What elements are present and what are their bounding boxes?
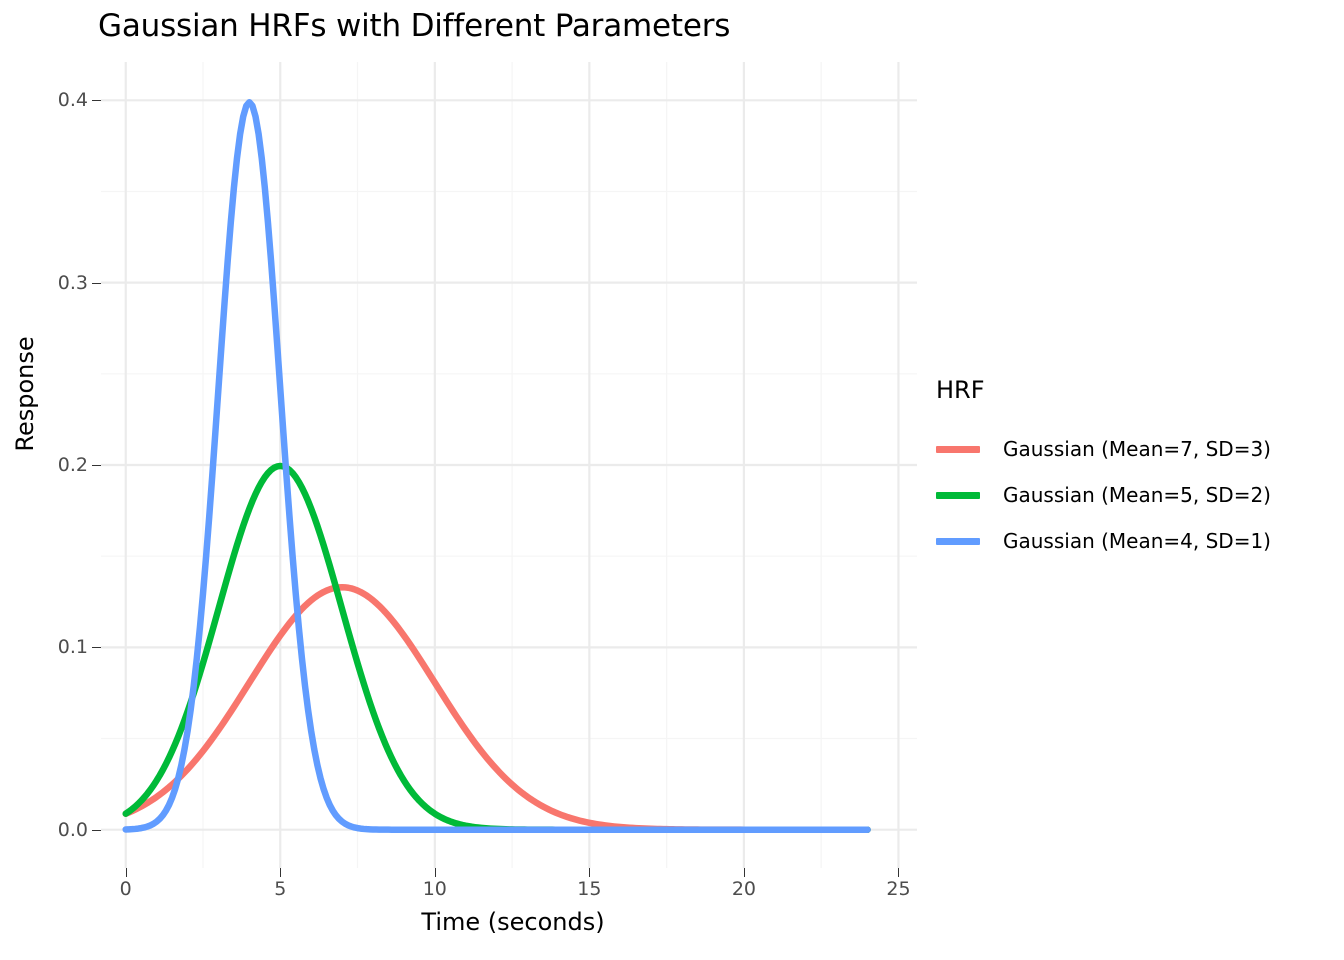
x-axis-title: Time (seconds) bbox=[136, 908, 890, 936]
legend-title: HRF bbox=[936, 376, 1271, 404]
x-tick-label: 15 bbox=[554, 878, 624, 900]
x-tick-label: 20 bbox=[709, 878, 779, 900]
legend-item-label: Gaussian (Mean=4, SD=1) bbox=[1003, 529, 1271, 553]
chart-figure: Gaussian HRFs with Different Parameters … bbox=[0, 0, 1344, 960]
legend-color-swatch bbox=[936, 446, 980, 453]
x-axis-tick-labels: 0510152025 bbox=[0, 878, 1344, 908]
y-tick-mark bbox=[92, 830, 101, 831]
y-tick-mark bbox=[92, 283, 101, 284]
x-tick-mark bbox=[435, 868, 436, 877]
plot-area-svg bbox=[101, 62, 917, 868]
x-tick-mark bbox=[744, 868, 745, 877]
y-tick-label: 0.0 bbox=[18, 819, 88, 841]
x-tick-label: 25 bbox=[863, 878, 933, 900]
legend-item-label: Gaussian (Mean=5, SD=2) bbox=[1003, 483, 1271, 507]
y-tick-mark bbox=[92, 647, 101, 648]
x-tick-mark bbox=[589, 868, 590, 877]
x-tick-mark bbox=[898, 868, 899, 877]
y-tick-mark bbox=[92, 465, 101, 466]
x-tick-label: 10 bbox=[400, 878, 470, 900]
x-tick-label: 5 bbox=[245, 878, 315, 900]
legend-color-swatch bbox=[936, 538, 980, 545]
legend-item-label: Gaussian (Mean=7, SD=3) bbox=[1003, 437, 1271, 461]
legend-items: Gaussian (Mean=7, SD=3)Gaussian (Mean=5,… bbox=[936, 426, 1271, 564]
legend-item[interactable]: Gaussian (Mean=5, SD=2) bbox=[936, 472, 1271, 518]
x-tick-mark bbox=[126, 868, 127, 877]
plot-panel bbox=[101, 62, 917, 868]
legend-color-swatch bbox=[936, 492, 980, 499]
y-tick-label: 0.3 bbox=[18, 272, 88, 294]
y-tick-label: 0.2 bbox=[18, 454, 88, 476]
legend-item[interactable]: Gaussian (Mean=4, SD=1) bbox=[936, 518, 1271, 564]
y-tick-label: 0.4 bbox=[18, 89, 88, 111]
y-axis-tick-labels: 0.00.10.20.30.4 bbox=[10, 0, 88, 960]
x-tick-mark bbox=[280, 868, 281, 877]
legend-item[interactable]: Gaussian (Mean=7, SD=3) bbox=[936, 426, 1271, 472]
legend: HRF Gaussian (Mean=7, SD=3)Gaussian (Mea… bbox=[936, 376, 1271, 564]
y-tick-label: 0.1 bbox=[18, 636, 88, 658]
x-tick-label: 0 bbox=[91, 878, 161, 900]
chart-title: Gaussian HRFs with Different Parameters bbox=[98, 8, 730, 44]
y-tick-mark bbox=[92, 100, 101, 101]
